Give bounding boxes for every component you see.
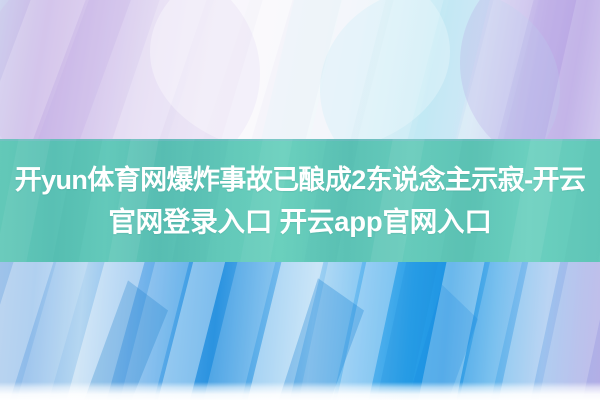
bottom-chevron-pattern bbox=[0, 262, 600, 400]
top-pastel-band bbox=[0, 0, 600, 140]
bottom-white-fade bbox=[0, 382, 600, 400]
bottom-deep-blue-accents bbox=[0, 262, 600, 400]
banner-image: 开yun体育网爆炸事故已酿成2东说念主示寂-开云 官网登录入口 开云app官网入… bbox=[0, 0, 600, 400]
teal-headline-band: 开yun体育网爆炸事故已酿成2东说念主示寂-开云 官网登录入口 开云app官网入… bbox=[0, 139, 600, 262]
top-chevron-pattern bbox=[0, 0, 600, 140]
headline-text-block: 开yun体育网爆炸事故已酿成2东说念主示寂-开云 官网登录入口 开云app官网入… bbox=[0, 139, 600, 262]
headline-line-1: 开yun体育网爆炸事故已酿成2东说念主示寂-开云 bbox=[15, 160, 586, 200]
headline-line-2: 官网登录入口 开云app官网入口 bbox=[108, 202, 491, 242]
bottom-blue-band bbox=[0, 262, 600, 400]
top-soft-glow bbox=[0, 0, 600, 140]
